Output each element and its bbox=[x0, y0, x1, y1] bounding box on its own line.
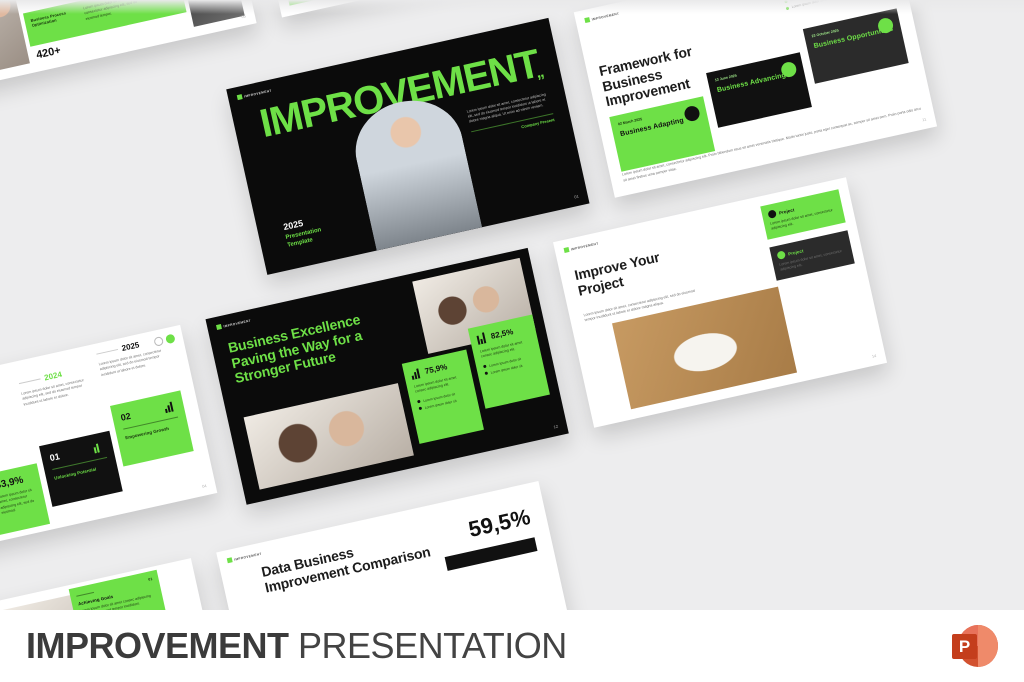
slide-title: Data Business Improvement Comparison bbox=[260, 526, 443, 596]
powerpoint-letter: P bbox=[959, 638, 970, 655]
poster-title-bold: IMPROVEMENT bbox=[26, 625, 289, 666]
slide-improve-your-project[interactable]: IMPROVEMENT Improve Your Project Lorem i… bbox=[553, 177, 887, 427]
banner-optimization[interactable]: Business Process Optimization Lorem ipsu… bbox=[23, 0, 187, 47]
page-number: 14 bbox=[871, 353, 876, 359]
logo-mark-icon bbox=[237, 94, 243, 100]
badge-icon bbox=[776, 250, 786, 260]
logo-text: IMPROVEMENT bbox=[223, 318, 251, 328]
logo-text: IMPROVEMENT bbox=[234, 551, 262, 561]
slide-grid: Lorem ipsum dolor sit amet Lorem ipsum d… bbox=[0, 0, 1024, 612]
tile-number: 01 bbox=[49, 451, 61, 463]
target-icon bbox=[93, 440, 106, 453]
logo-mark-icon bbox=[227, 557, 233, 563]
banner-label: Business Process Optimization bbox=[30, 8, 79, 28]
bar-chart-icon bbox=[163, 400, 176, 413]
stat-value: 59,5% bbox=[466, 504, 533, 543]
bullet-label: Lorem ipsum dolor sit amet curabi bbox=[791, 0, 842, 9]
powerpoint-letter-badge: P bbox=[952, 634, 977, 659]
slide-logo: IMPROVEMENT bbox=[237, 88, 272, 100]
slide-strategic-transformation[interactable]: IMPROVEMENT Strategic Transformation Bui… bbox=[245, 0, 575, 18]
slide-our-agenda[interactable]: IMPROVEMENT Our Agenda Achieving Next-Le… bbox=[0, 558, 232, 612]
banner-stat: 420+ bbox=[35, 44, 62, 61]
slide-mosaic: Lorem ipsum dolor sit amet Lorem ipsum d… bbox=[0, 0, 1024, 612]
page-number: 12 bbox=[553, 424, 558, 430]
slide-framework-improvement[interactable]: IMPROVEMENT Business Performance Lorem i… bbox=[574, 0, 937, 198]
slide-title: Business Excellence Paving the Way for a… bbox=[227, 307, 393, 388]
stat-card-building[interactable]: 82,5% Lorem ipsum dolor sit amet consec … bbox=[468, 314, 550, 408]
card-number: 01 bbox=[148, 577, 153, 582]
logo-mark-icon bbox=[564, 247, 570, 253]
agenda-card-01[interactable]: 01 Achieving Goals Lorem ipsum dolor sit… bbox=[69, 570, 168, 612]
slide-strategies-continuous[interactable]: IMPROVEMENT Strategies for Continuous Im… bbox=[0, 0, 257, 88]
year-block: 2025 Lorem ipsum dolor sit amet, consect… bbox=[95, 334, 172, 378]
project-card-green[interactable]: Project Lorem ipsum dolor sit amet, cons… bbox=[760, 189, 845, 240]
slide-logo: IMPROVEMENT bbox=[227, 551, 262, 563]
poster-title: IMPROVEMENT PRESENTATION bbox=[26, 625, 567, 667]
framework-eyebrow: Business Performance Lorem ipsum dolor a… bbox=[779, 0, 896, 11]
page-number: 05 bbox=[241, 13, 246, 19]
stat-body: Lorem ipsum dolor sit amet, consectetur … bbox=[0, 487, 38, 516]
poster-canvas: Lorem ipsum dolor sit amet Lorem ipsum d… bbox=[0, 0, 1024, 682]
stat-value: 75,9% bbox=[424, 362, 448, 376]
page-number: 04 bbox=[202, 483, 207, 489]
footer-bar: IMPROVEMENT PRESENTATION P bbox=[0, 610, 1024, 682]
year-label: 2024 bbox=[43, 370, 62, 383]
year-block: 2024 Lorem ipsum dolor sit amet, consect… bbox=[18, 364, 93, 408]
card-label: Project bbox=[778, 207, 794, 215]
slide-logo: IMPROVEMENT bbox=[216, 318, 251, 330]
slide-strategic-approach[interactable]: IMPROVEMENT Strategic Approach to Improv… bbox=[0, 325, 217, 558]
powerpoint-icon: P bbox=[952, 623, 998, 669]
hero-footer: 2025 Presentation Template bbox=[282, 211, 341, 250]
slide-data-comparison[interactable]: IMPROVEMENT Data Business Improvement Co… bbox=[216, 481, 579, 612]
project-card-dark[interactable]: Project Lorem ipsum dolor sit amet, cons… bbox=[769, 230, 854, 281]
card-label: Project bbox=[788, 248, 804, 256]
panel-business-performance[interactable]: Business Performance Lorem ipsum dolor s… bbox=[278, 0, 428, 6]
photo-phone bbox=[183, 0, 245, 27]
slide-title: Improve Your Project bbox=[573, 243, 693, 299]
year-label: 2025 bbox=[121, 340, 140, 353]
logo-mark-icon bbox=[216, 324, 222, 330]
tile-empowering[interactable]: 02 Empowering Growth bbox=[110, 390, 194, 466]
stat-value: 82,5% bbox=[490, 327, 514, 341]
photo-workshop bbox=[244, 383, 414, 489]
slide-logo: IMPROVEMENT bbox=[584, 11, 619, 23]
slide-title-improvement[interactable]: IMPROVEMENT IMPROVEMENT ” Lorem ipsum do… bbox=[226, 18, 589, 275]
poster-title-light: PRESENTATION bbox=[298, 625, 567, 666]
tile-number: 02 bbox=[120, 410, 132, 422]
slide-business-excellence[interactable]: IMPROVEMENT Business Excellence Paving t… bbox=[205, 248, 568, 505]
logo-text: IMPROVEMENT bbox=[244, 88, 272, 98]
tile-unlocking[interactable]: 01 Unlocking Potential bbox=[39, 431, 123, 507]
logo-text: IMPROVEMENT bbox=[571, 241, 599, 251]
bullet-item: Lorem ipsum dolor sit amet curabi bbox=[786, 0, 896, 11]
logo-text: IMPROVEMENT bbox=[591, 11, 619, 21]
stat-card-driving[interactable]: 75,9% Lorem ipsum dolor sit amet consec … bbox=[402, 350, 484, 444]
stat-bar bbox=[445, 537, 538, 571]
photo-team bbox=[0, 0, 30, 76]
banner-body: Lorem ipsum dolor sit amet, consectetur … bbox=[83, 0, 144, 28]
page-number: 11 bbox=[922, 117, 927, 123]
stat-panel[interactable]: 4537+ Lorem ipsum dolor sit amet, consec… bbox=[0, 463, 50, 549]
banner-link[interactable]: Contacts for Helped With Us bbox=[145, 0, 179, 14]
line-chart-icon bbox=[476, 332, 489, 345]
framework-card-opportunities[interactable]: 23 October 2025 Business Opportunities bbox=[803, 8, 909, 83]
slide-logo: IMPROVEMENT bbox=[564, 240, 599, 252]
bar-chart-icon bbox=[410, 367, 423, 380]
slide-title: Strategic Approach to Improvement bbox=[0, 399, 22, 468]
logo-mark-icon bbox=[584, 17, 590, 23]
badge-icon bbox=[767, 209, 777, 219]
page-number: 01 bbox=[574, 194, 579, 200]
